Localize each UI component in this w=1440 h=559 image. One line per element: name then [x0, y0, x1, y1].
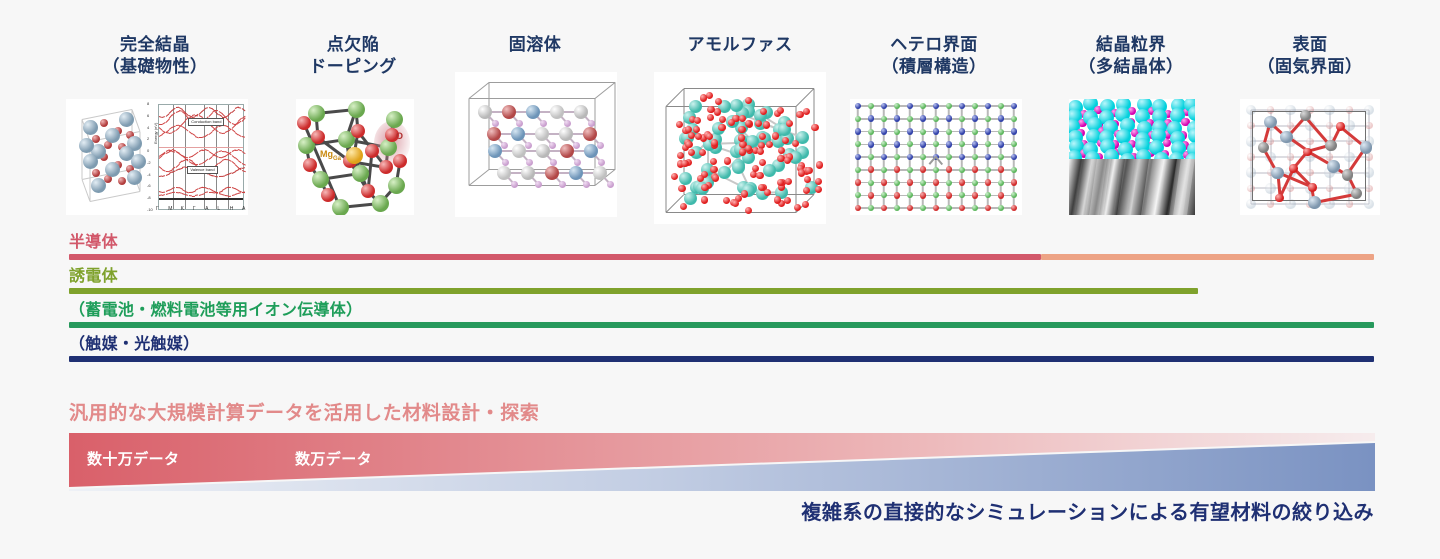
atom	[868, 154, 874, 160]
atom	[777, 107, 784, 114]
atom	[794, 204, 801, 211]
atom	[785, 178, 792, 185]
bond	[814, 88, 815, 194]
bond	[469, 98, 470, 185]
atom	[83, 154, 98, 169]
bond	[469, 82, 490, 99]
atom	[714, 108, 721, 115]
atom	[972, 166, 979, 173]
atom	[998, 154, 1004, 160]
atom	[985, 179, 992, 186]
atom	[706, 92, 713, 99]
atom	[920, 180, 926, 186]
atom	[920, 166, 927, 173]
atom	[985, 141, 991, 147]
atom	[998, 192, 1005, 199]
atom	[894, 166, 901, 173]
bond	[469, 185, 595, 186]
thumbnail-hetero-interface	[850, 99, 1022, 215]
atom	[131, 154, 146, 169]
bond	[595, 82, 616, 99]
atom	[985, 192, 991, 198]
atom	[1325, 140, 1336, 151]
bond	[684, 88, 814, 89]
atom	[728, 119, 735, 126]
category-label-ion-conductor: （蓄電池・燃料電池等用イオン伝導体）	[69, 296, 362, 320]
bond	[231, 109, 235, 113]
bottom-subtitle: 汎用的な大規模計算データを活用した材料設計・探索	[69, 398, 539, 425]
atom	[79, 138, 94, 153]
atom	[1264, 116, 1276, 128]
atom	[756, 172, 763, 179]
oxygen-label: O	[396, 131, 403, 141]
atom	[815, 186, 822, 193]
band-ytick: 2	[147, 136, 149, 141]
atom	[1104, 149, 1119, 159]
atom	[868, 192, 875, 199]
atom	[803, 108, 810, 115]
atom	[946, 115, 953, 122]
atom	[946, 141, 953, 148]
atom	[972, 192, 979, 199]
atomistic-region	[1069, 99, 1195, 159]
atom	[118, 177, 126, 185]
atom	[706, 133, 713, 140]
bond	[241, 108, 245, 111]
thumbnail-figure-solid-solution-cell	[455, 72, 617, 217]
atom	[786, 120, 793, 127]
atom	[550, 105, 564, 119]
atom	[348, 101, 365, 118]
core-band	[159, 198, 243, 200]
atom	[972, 103, 978, 109]
atom	[811, 124, 818, 131]
atom	[478, 105, 492, 119]
atom	[1308, 183, 1316, 191]
atom	[758, 184, 765, 191]
atom	[127, 170, 142, 185]
bond	[615, 82, 616, 169]
atom	[972, 180, 978, 186]
atom	[985, 116, 991, 122]
atom	[311, 130, 325, 144]
atom	[907, 116, 913, 122]
atom	[584, 144, 598, 158]
dopant-site-sub: Ga	[333, 156, 341, 162]
atom	[711, 139, 718, 146]
symmetry-line	[173, 105, 174, 209]
band-xtick: K	[181, 206, 184, 212]
atom	[379, 160, 393, 174]
atom	[946, 180, 952, 186]
atom	[959, 116, 965, 122]
band-ytick: 4	[147, 125, 149, 130]
atom	[1011, 167, 1017, 173]
atom	[92, 169, 100, 177]
column-heading-line2: ドーピング	[223, 56, 483, 78]
atom	[488, 144, 502, 158]
atom	[1136, 149, 1151, 159]
atom	[583, 181, 590, 188]
atom	[998, 129, 1004, 135]
volume-label-1: 数万データ	[295, 448, 372, 469]
atom	[526, 159, 533, 166]
atom	[560, 144, 574, 158]
bond	[796, 88, 815, 107]
atom	[985, 154, 992, 161]
atom	[1011, 179, 1018, 186]
atom	[745, 120, 752, 127]
atom	[881, 154, 888, 161]
atom	[550, 159, 557, 166]
atom	[894, 154, 900, 160]
volume-label-0: 数十万データ	[87, 448, 179, 469]
atom	[855, 192, 861, 198]
atom	[972, 154, 978, 160]
atom	[855, 141, 861, 147]
slide-canvas: 完全結晶（基礎物性）点欠陥ドーピング固溶体アモルファスヘテロ界面（積層構造）結晶…	[0, 0, 1440, 559]
atom	[492, 120, 499, 127]
atom	[985, 128, 992, 135]
atom	[564, 120, 571, 127]
atom	[559, 181, 566, 188]
atom	[946, 129, 952, 135]
atom	[763, 121, 770, 128]
atom	[959, 192, 965, 198]
atom	[1011, 128, 1018, 135]
category-bar-dielectric-seg0	[69, 288, 1198, 294]
atom	[1346, 200, 1353, 207]
atom	[352, 165, 369, 182]
atom	[933, 103, 940, 110]
thumbnail-figure-amorphous-cell	[654, 72, 826, 224]
atom	[346, 147, 363, 164]
atom	[712, 174, 719, 181]
atom	[881, 167, 887, 173]
atom	[718, 124, 725, 131]
atom	[701, 184, 708, 191]
thumbnail-solid-solution	[455, 72, 617, 217]
atom	[894, 115, 901, 122]
atom	[1188, 128, 1195, 143]
atom	[868, 129, 874, 135]
atom	[1365, 122, 1372, 129]
atom	[1327, 160, 1339, 172]
atom	[998, 141, 1005, 148]
band-xtick: A	[242, 206, 245, 212]
atom	[907, 167, 913, 173]
atom	[855, 205, 862, 212]
thumbnail-perfect-crystal: Conduction bandValence bandEnergy (eV)ΓM…	[66, 99, 248, 215]
atom	[868, 141, 875, 148]
atom	[855, 179, 862, 186]
atom	[959, 167, 965, 173]
atom	[798, 169, 805, 176]
atom	[855, 128, 862, 135]
atom	[707, 106, 714, 113]
atom	[678, 185, 685, 192]
band-ylabel: Energy (eV)	[153, 122, 158, 143]
thumbnail-figure-crystal-plus-band-structure: Conduction bandValence bandEnergy (eV)ΓM…	[66, 99, 248, 215]
atom	[759, 159, 766, 166]
band-xtick: M	[168, 206, 172, 212]
atom	[388, 177, 405, 194]
thumbnail-figure-hetero-interface-lattice	[850, 99, 1022, 215]
atom	[959, 154, 966, 161]
atom	[1011, 141, 1017, 147]
atom	[868, 103, 874, 109]
atom	[512, 144, 526, 158]
bond	[666, 106, 667, 212]
atom	[502, 105, 516, 119]
atom	[805, 167, 812, 174]
category-label-semiconductor: 半導体	[69, 228, 118, 252]
atom	[1342, 169, 1353, 180]
atom	[516, 120, 523, 127]
atom	[972, 141, 979, 148]
atom	[719, 116, 726, 123]
crystal-cell	[68, 101, 154, 213]
column-heading-line2: （固気界面）	[1180, 56, 1440, 78]
atom	[998, 115, 1005, 122]
category-bar-catalyst-seg0	[69, 356, 1374, 362]
atom	[526, 105, 540, 119]
atom	[855, 103, 862, 110]
atom	[855, 167, 861, 173]
atom	[393, 154, 407, 168]
band-xtick: A	[205, 206, 208, 212]
band-ytick: 8	[147, 101, 149, 106]
atom	[933, 116, 939, 122]
band-structure-plot: Conduction bandValence band	[158, 104, 244, 210]
atom	[83, 120, 98, 135]
thumbnail-figure-doped-lattice: MgGaO	[296, 99, 414, 215]
atom	[998, 180, 1004, 186]
atom	[998, 103, 1004, 109]
atom	[1011, 192, 1017, 198]
atom	[536, 144, 550, 158]
atom	[681, 160, 688, 167]
atom	[881, 103, 888, 110]
bottom-caption: 複雑系の直接的なシミュレーションによる有望材料の絞り込み	[801, 496, 1374, 525]
atom	[881, 128, 888, 135]
atom	[959, 179, 966, 186]
atom	[907, 141, 913, 147]
atom	[855, 154, 862, 161]
category-label-catalyst: （触媒・光触媒）	[69, 330, 199, 354]
thumbnail-figure-surface-slab	[1240, 99, 1380, 215]
column-heading-line1: 表面	[1180, 34, 1440, 56]
atom	[540, 120, 547, 127]
atom	[907, 179, 914, 186]
band-xtick: Γ	[156, 206, 159, 212]
atom	[959, 205, 966, 212]
atom	[574, 159, 581, 166]
atom	[972, 129, 978, 135]
atom	[920, 154, 926, 160]
atom	[959, 103, 966, 110]
atom	[894, 129, 900, 135]
atom	[933, 128, 940, 135]
band-ytick: -10	[147, 207, 153, 212]
atom	[694, 117, 701, 124]
atom	[100, 119, 108, 127]
atom	[1280, 131, 1292, 143]
atom	[502, 159, 509, 166]
atom	[802, 201, 809, 208]
atom	[946, 154, 952, 160]
atom	[386, 111, 403, 128]
atom	[784, 157, 791, 164]
atom	[91, 178, 106, 193]
atom	[677, 152, 684, 159]
atom	[855, 116, 861, 122]
dopant-label: MgGa	[320, 149, 341, 162]
atom	[535, 181, 542, 188]
atom	[772, 132, 779, 139]
atom	[933, 179, 940, 186]
atom	[1271, 167, 1283, 179]
data-scale-wedges	[69, 431, 1375, 493]
atom	[763, 164, 776, 177]
valence-band-label: Valence band	[187, 166, 217, 174]
band-ytick: -6	[147, 183, 151, 188]
bond	[469, 169, 490, 186]
atom	[907, 103, 914, 110]
band-ytick: -2	[147, 160, 151, 165]
atom	[920, 205, 926, 211]
bond	[241, 151, 245, 154]
atom	[959, 141, 965, 147]
atom	[757, 148, 764, 155]
atom	[732, 200, 739, 207]
atom	[946, 192, 953, 199]
band-ytick: 0	[147, 148, 149, 153]
band-ytick: -8	[147, 195, 151, 200]
atom	[1011, 154, 1018, 161]
category-bar-ion-conductor-seg0	[69, 322, 1374, 328]
atom	[680, 203, 687, 210]
atom	[1085, 151, 1100, 159]
band-xtick: H	[230, 206, 234, 212]
atom	[119, 112, 134, 127]
atom	[881, 116, 887, 122]
atom	[933, 205, 940, 212]
thumbnail-grain-boundary	[1069, 99, 1195, 215]
atom	[1169, 152, 1184, 159]
bond	[242, 170, 246, 172]
band-xtick: L	[217, 206, 220, 212]
atom	[920, 141, 927, 148]
atom	[868, 205, 874, 211]
atom	[365, 144, 379, 158]
atom	[907, 205, 914, 212]
atom	[1011, 205, 1018, 212]
atom	[1365, 153, 1372, 160]
bond	[242, 167, 246, 169]
grain-streak	[1069, 159, 1084, 215]
atom	[598, 159, 605, 166]
atom	[332, 199, 349, 216]
atom	[321, 188, 335, 202]
atom	[881, 205, 888, 212]
atom	[1336, 122, 1344, 130]
atom	[752, 165, 759, 172]
atom	[1365, 185, 1372, 192]
thumbnail-figure-grain-boundary-composite	[1069, 99, 1195, 215]
conduction-band-label: Conduction band	[188, 118, 224, 126]
atom	[777, 179, 784, 186]
atom	[946, 166, 953, 173]
atom	[372, 195, 389, 212]
atom	[920, 103, 926, 109]
atom	[1011, 103, 1018, 110]
atom	[685, 126, 692, 133]
atom	[815, 178, 822, 185]
bond	[666, 212, 796, 213]
atom	[312, 171, 329, 188]
atom	[972, 115, 979, 122]
atom	[361, 184, 375, 198]
atom	[972, 205, 978, 211]
atom	[511, 181, 518, 188]
atom	[745, 207, 752, 214]
atom	[985, 103, 992, 110]
atom	[738, 134, 745, 141]
atom	[718, 166, 731, 179]
atom	[933, 141, 939, 147]
thumbnail-amorphous	[654, 72, 826, 224]
atom	[574, 105, 588, 119]
atom	[868, 180, 874, 186]
atom	[1303, 148, 1311, 156]
atom	[784, 197, 791, 204]
atom	[699, 149, 706, 156]
atom	[894, 103, 900, 109]
bond	[241, 163, 245, 165]
atom	[588, 120, 595, 127]
atom	[933, 167, 939, 173]
atom	[701, 196, 708, 203]
atom	[998, 166, 1005, 173]
band-xtick: Γ	[193, 206, 196, 212]
atom	[741, 190, 748, 197]
atom	[693, 126, 700, 133]
atom	[700, 94, 707, 101]
atom	[959, 128, 966, 135]
atom	[730, 99, 743, 112]
atom	[685, 141, 692, 148]
thumbnail-point-defect: MgGaO	[296, 99, 414, 215]
atom	[105, 162, 120, 177]
atom	[1360, 141, 1372, 153]
atom	[671, 173, 678, 180]
atom	[998, 205, 1004, 211]
atom	[920, 129, 926, 135]
atom	[985, 167, 991, 173]
atom	[894, 180, 900, 186]
category-bar-semiconductor-seg0	[69, 254, 1041, 260]
atom	[868, 115, 875, 122]
atom	[303, 158, 317, 172]
atom	[351, 124, 365, 138]
atom	[688, 149, 695, 156]
wedge-graphic	[69, 431, 1375, 493]
atom	[868, 166, 875, 173]
atom	[881, 141, 887, 147]
atom	[766, 141, 773, 148]
atom	[881, 192, 887, 198]
